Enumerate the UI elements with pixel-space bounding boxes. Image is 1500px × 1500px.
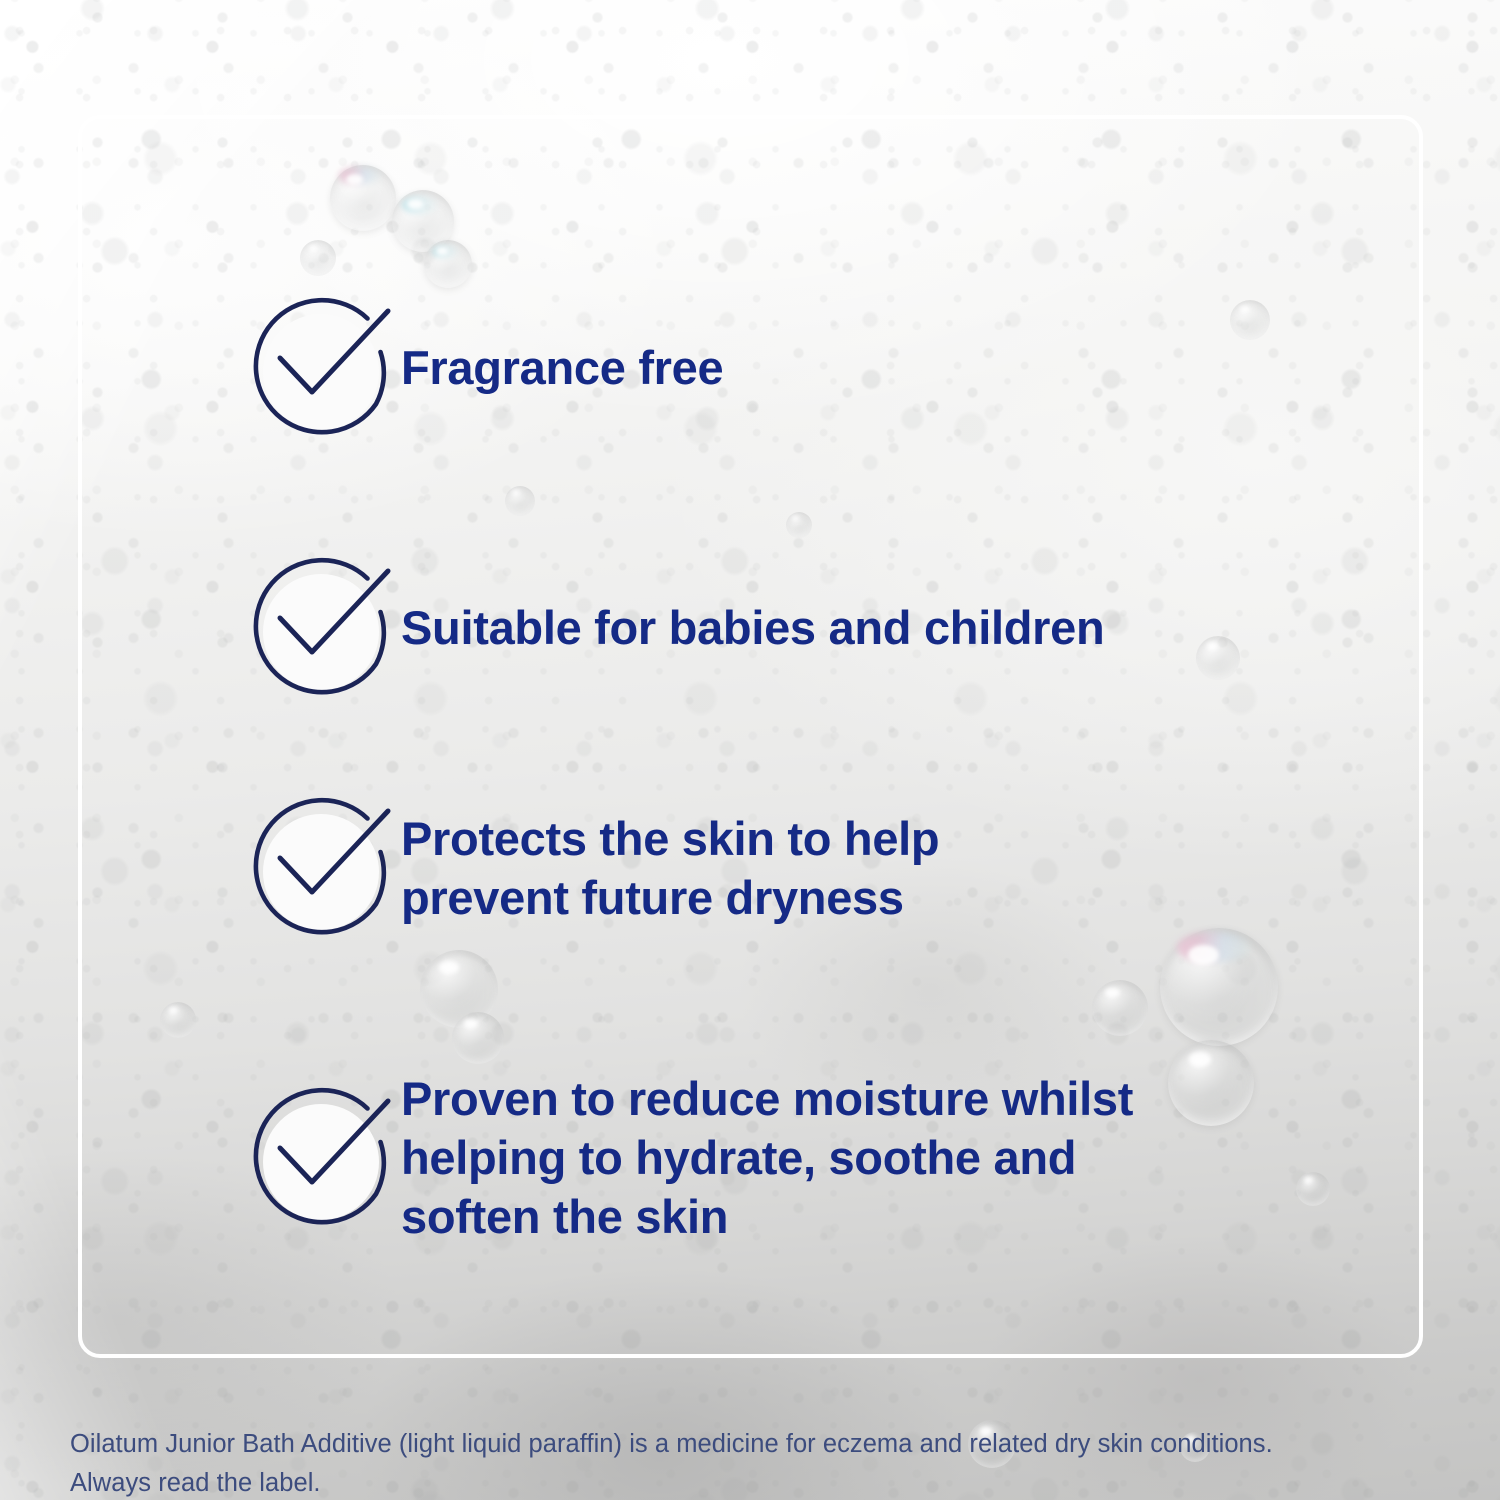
- list-item-label: Fragrance free: [401, 338, 723, 397]
- list-item: Protects the skin to help prevent future…: [249, 792, 939, 944]
- list-item-label: Protects the skin to help prevent future…: [401, 809, 939, 927]
- list-item: Suitable for babies and children: [249, 552, 1104, 704]
- list-item-label: Proven to reduce moisture whilst helping…: [401, 1069, 1133, 1247]
- check-circle-icon: [249, 552, 401, 704]
- list-item: Fragrance free: [249, 292, 723, 444]
- product-benefits-image: Fragrance free Suitable for babies and c…: [0, 0, 1500, 1500]
- benefits-list: Fragrance free Suitable for babies and c…: [0, 0, 1500, 1500]
- list-item: Proven to reduce moisture whilst helping…: [249, 1069, 1133, 1247]
- check-circle-icon: [249, 1082, 401, 1234]
- check-circle-icon: [249, 292, 401, 444]
- check-circle-icon: [249, 792, 401, 944]
- regulatory-disclaimer: Oilatum Junior Bath Additive (light liqu…: [70, 1425, 1460, 1500]
- list-item-label: Suitable for babies and children: [401, 598, 1104, 657]
